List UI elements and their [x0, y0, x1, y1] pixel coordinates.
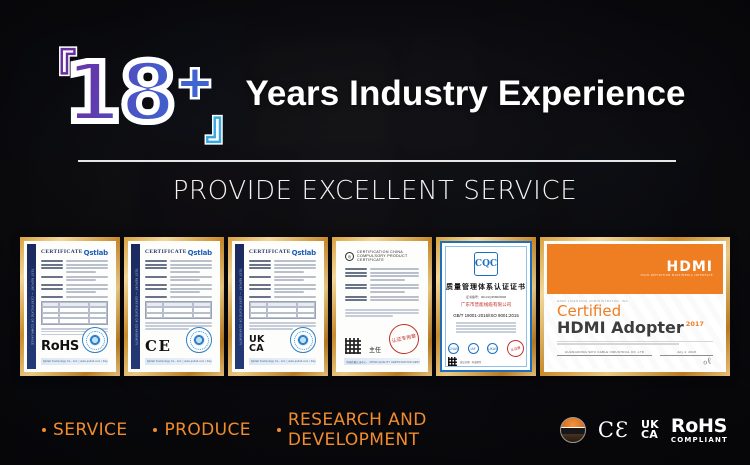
certificates-row: TEST REPORT — CERTIFICATE OF COMPLIANCE … [20, 237, 730, 376]
certificate-card-rohs[interactable]: TEST REPORT — CERTIFICATE OF COMPLIANCE … [20, 237, 120, 376]
certificate-results-table [41, 301, 108, 325]
compliance-logos: CƐ UK CA RoHS COMPLIANT [560, 417, 750, 444]
certificate-footer-bar: 中国质量认证中心 · CHINA QUALITY CERTIFICATION C… [344, 358, 420, 365]
certificate-qr-code [345, 338, 361, 354]
cnas-badge-icon: CNAS [448, 343, 459, 354]
certificate-footer-bar: 发证日期 · 有效期至 [448, 357, 524, 366]
qstlab-logo: Qstlab [84, 249, 108, 257]
ce-mark-icon: CƐ [598, 418, 629, 442]
rohs-mark: RoHS [41, 341, 79, 353]
ukca-mark-icon: UK CA [641, 420, 659, 440]
qstlab-logo: Qstlab [292, 249, 316, 257]
hdmi-date-field: July 4, 2018 [660, 350, 713, 356]
hdmi-signature: ℴℓ [702, 355, 712, 367]
years-number-group: 『 18 18 + + 』 [64, 55, 213, 133]
hdmi-logo-subtext: HIGH-DEFINITION MULTIMEDIA INTERFACE [641, 275, 713, 278]
promo-banner: 『 18 18 + + 』 Years Industry Experience … [0, 0, 750, 465]
certificate-field-lines [145, 260, 212, 298]
hdmi-fineprint-lines [557, 341, 713, 345]
service-label: RESEARCH AND DEVELOPMENT [288, 410, 560, 450]
ukca-line2: CA [641, 430, 659, 440]
service-item-produce: PRODUCE [153, 420, 250, 440]
ukca-mark: UK CA [249, 335, 265, 353]
rohs-label: RoHS [671, 417, 728, 436]
hdmi-adopter-text: HDMI Adopter [557, 320, 684, 337]
iaf-badge-icon: IAF [468, 343, 479, 354]
red-official-stamp: 认证专用章 [386, 321, 422, 357]
certificate-card-china-compulsory[interactable]: ◎ CERTIFICATION CHINA COMPULSORY PRODUCT… [332, 237, 432, 376]
banner-subtitle: PROVIDE EXCELLENT SERVICE [0, 176, 750, 206]
certificate-card-ukca[interactable]: TEST REPORT — CERTIFICATE OF CONFORMITY … [228, 237, 328, 376]
rohs-mark-icon: RoHS COMPLIANT [671, 417, 728, 444]
certificate-heading: 质量管理体系认证证书 [446, 282, 526, 292]
certification-badge-icon [560, 417, 586, 443]
certificate-heading: CERTIFICATE [249, 249, 291, 255]
hero-divider [78, 160, 676, 162]
ce-mark: CE [145, 339, 171, 353]
certificate-card-iso-quality[interactable]: CQC 质量管理体系认证证书 证书编号：00121Q35860R0M 广东市普能… [436, 237, 536, 376]
accreditation-badges: CNAS IAF UKAS 认证章 [448, 340, 524, 357]
years-number-fill: 18 [64, 55, 174, 133]
red-official-stamp: 认证章 [505, 338, 526, 359]
certificate-footer-bar: Qstlab Technology Co., Ltd. | www.qstlab… [145, 358, 212, 365]
cqc-logo: CQC [474, 252, 498, 276]
certificate-footer-bar: Qstlab Technology Co., Ltd. | www.qstlab… [249, 358, 316, 365]
hdmi-adopter-label: HDMI Adopter 2017 [557, 320, 713, 337]
certificate-card-hdmi-adopter[interactable]: HDMI HIGH-DEFINITION MULTIMEDIA INTERFAC… [540, 237, 730, 376]
accreditation-seal-icon [186, 327, 212, 353]
certificate-company: 广东市普能线缆有限公司 [461, 302, 512, 308]
certificate-field-lines [249, 260, 316, 298]
hdmi-logo: HDMI HIGH-DEFINITION MULTIMEDIA INTERFAC… [641, 260, 713, 278]
certificate-heading: CERTIFICATE [41, 249, 83, 255]
ccc-emblem-icon: ◎ [345, 252, 354, 261]
certificate-field-lines [456, 322, 517, 334]
certificate-footer-bar: Qstlab Technology Co., Ltd. | www.qstlab… [41, 358, 108, 365]
bracket-close-icon: 』 [205, 107, 243, 145]
certificate-heading: CERTIFICATE [145, 249, 187, 255]
certificate-heading: CERTIFICATION CHINA COMPULSORY PRODUCT C… [357, 250, 419, 262]
hero-title: Years Industry Experience [245, 74, 685, 114]
bullet-icon [277, 428, 281, 432]
service-label: PRODUCE [164, 420, 250, 440]
hdmi-company-field: GUANGDONG SIPU CABLE INDUSTRIAL CO.,LTD [557, 350, 652, 356]
certificate-side-strip: TEST REPORT — CERTIFICATE OF CONFORMITY [235, 244, 244, 369]
certificate-number: 证书编号：00121Q35860R0M [466, 295, 506, 299]
ukca-mark-line2: CA [249, 344, 265, 353]
certificate-field-lines [345, 268, 419, 301]
hdmi-year: 2017 [686, 321, 704, 328]
certificate-standard: GB/T 19001-2016/ISO 9001:2015 [453, 313, 519, 318]
certificate-card-ce[interactable]: TEST REPORT — CERTIFICATE OF CONFORMITY … [124, 237, 224, 376]
rohs-compliant-label: COMPLIANT [671, 437, 728, 444]
footer-bar: SERVICE PRODUCE RESEARCH AND DEVELOPMENT… [0, 417, 750, 443]
certificate-qr-code [448, 357, 457, 366]
certificate-footnote-lines [345, 309, 419, 316]
accreditation-seal-icon [82, 327, 108, 353]
bullet-icon [42, 428, 46, 432]
certificate-side-strip: TEST REPORT — CERTIFICATE OF COMPLIANCE [27, 244, 36, 369]
bullet-icon [153, 428, 157, 432]
plus-sign: + + [177, 61, 214, 105]
accreditation-seal-icon [290, 327, 316, 353]
certificate-signature: 主任 [369, 345, 381, 354]
plus-sign-fill: + [177, 61, 214, 105]
service-item-service: SERVICE [42, 420, 127, 440]
certificate-results-table [145, 301, 212, 320]
service-label: SERVICE [53, 420, 127, 440]
ukas-badge-icon: UKAS [487, 343, 498, 354]
hero-section: 『 18 18 + + 』 Years Industry Experience [0, 44, 750, 144]
certificate-side-strip: TEST REPORT — CERTIFICATE OF CONFORMITY [131, 244, 140, 369]
certificate-field-lines [41, 260, 108, 298]
service-item-research-and-development: RESEARCH AND DEVELOPMENT [277, 410, 560, 450]
services-list: SERVICE PRODUCE RESEARCH AND DEVELOPMENT [0, 410, 560, 450]
years-number: 18 18 [64, 55, 174, 133]
hdmi-logo-text: HDMI [667, 259, 713, 275]
certificate-results-table [249, 301, 316, 320]
qstlab-logo: Qstlab [188, 249, 212, 257]
